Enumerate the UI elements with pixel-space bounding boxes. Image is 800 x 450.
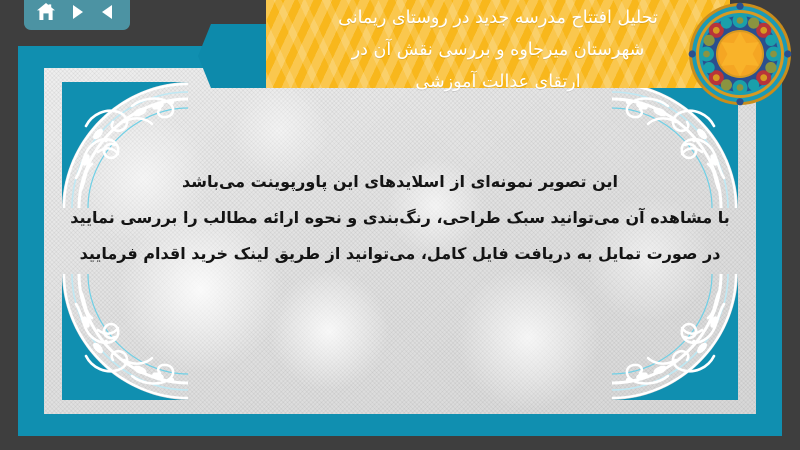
islamic-medallion-icon bbox=[688, 2, 792, 106]
body-line: در صورت تمایل به دریافت فایل کامل، می‌تو… bbox=[44, 236, 756, 272]
arabesque-corner-ornament bbox=[62, 272, 212, 400]
banner-connector-bar bbox=[18, 46, 218, 64]
slide-body: این تصویر نمونه‌ای از اسلایدهای این پاور… bbox=[44, 164, 756, 272]
title-banner: تحلیل افتتاح مدرسه جدید در روستای ریمانی… bbox=[266, 0, 730, 88]
slide-title: تحلیل افتتاح مدرسه جدید در روستای ریمانی… bbox=[338, 0, 658, 98]
body-line: این تصویر نمونه‌ای از اسلایدهای این پاور… bbox=[44, 164, 756, 200]
slide-canvas: این تصویر نمونه‌ای از اسلایدهای این پاور… bbox=[44, 68, 756, 414]
next-arrow-icon bbox=[67, 2, 87, 22]
arabesque-corner-ornament bbox=[588, 272, 738, 400]
banner-chevron-tab bbox=[198, 24, 270, 88]
slide-frame: این تصویر نمونه‌ای از اسلایدهای این پاور… bbox=[18, 46, 782, 436]
home-button[interactable] bbox=[33, 0, 59, 24]
body-line: با مشاهده آن می‌توانید سبک طراحی، رنگ‌بن… bbox=[44, 200, 756, 236]
slide-stage: تحلیل افتتاح مدرسه جدید در روستای ریمانی… bbox=[0, 0, 800, 450]
home-icon bbox=[35, 1, 57, 23]
next-button[interactable] bbox=[64, 0, 90, 24]
navigation-toolbar bbox=[24, 0, 130, 30]
previous-button[interactable] bbox=[95, 0, 121, 24]
previous-arrow-icon bbox=[98, 2, 118, 22]
